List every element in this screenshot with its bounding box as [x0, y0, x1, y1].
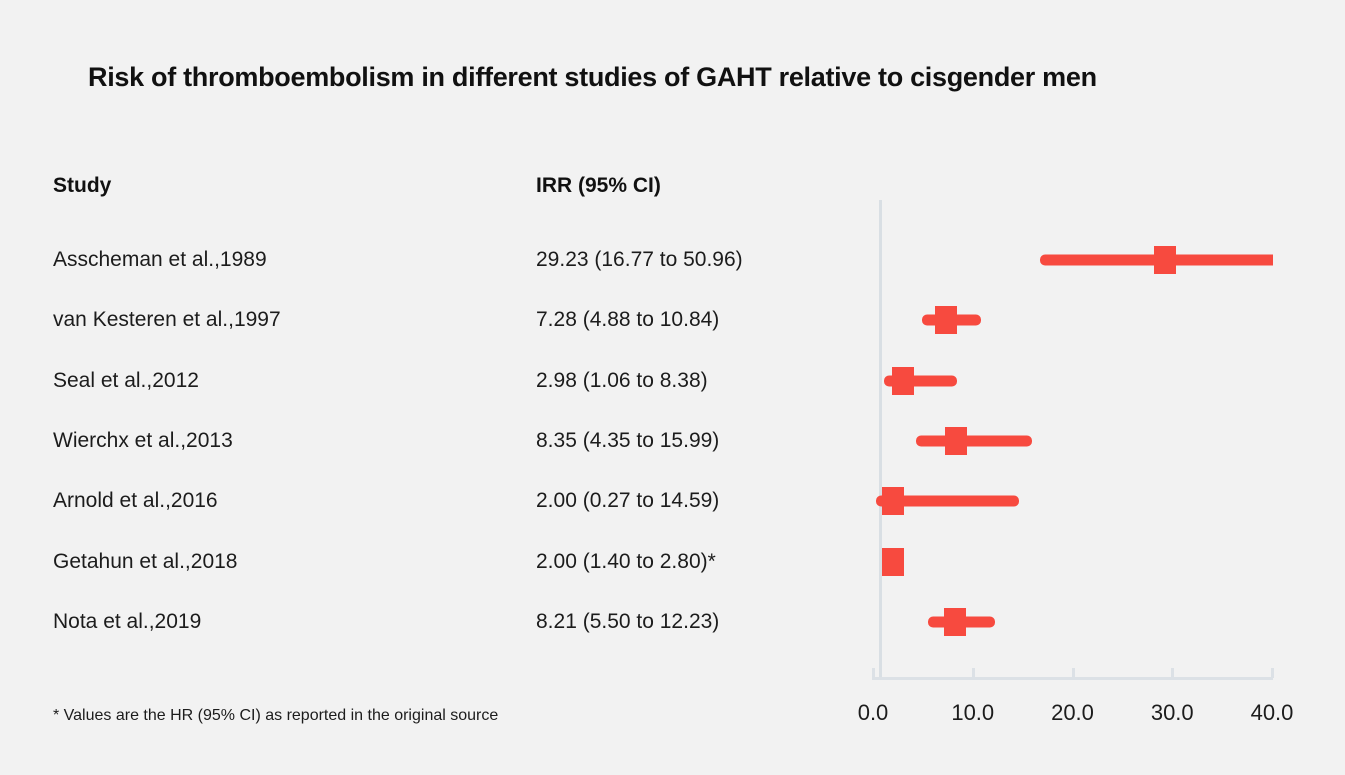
study-name: Nota et al.,2019: [53, 610, 201, 634]
x-axis-tick-label: 30.0: [1151, 700, 1194, 726]
confidence-interval-bar: [928, 616, 995, 627]
study-name: Wierchx et al.,2013: [53, 429, 233, 453]
study-name: Arnold et al.,2016: [53, 489, 218, 513]
x-axis-tick: [872, 668, 875, 678]
irr-value: 2.00 (0.27 to 14.59): [536, 489, 719, 513]
page-title: Risk of thromboembolism in different stu…: [88, 62, 1268, 93]
point-estimate-marker: [1154, 246, 1176, 274]
irr-value: 7.28 (4.88 to 10.84): [536, 308, 719, 332]
irr-value: 2.98 (1.06 to 8.38): [536, 369, 708, 393]
x-axis-spine: [872, 677, 1273, 680]
x-axis-tick: [1072, 668, 1075, 678]
irr-value: 2.00 (1.40 to 2.80)*: [536, 550, 716, 574]
study-name: Seal et al.,2012: [53, 369, 199, 393]
confidence-interval-bar: [1040, 255, 1273, 266]
point-estimate-marker: [892, 367, 914, 395]
point-estimate-marker: [882, 548, 904, 576]
confidence-interval-bar: [884, 375, 957, 386]
x-axis-tick: [972, 668, 975, 678]
reference-line: [879, 200, 882, 679]
column-header-irr: IRR (95% CI): [536, 174, 661, 198]
study-name: van Kesteren et al.,1997: [53, 308, 281, 332]
x-axis-tick-label: 10.0: [951, 700, 994, 726]
study-name: Asscheman et al.,1989: [53, 248, 267, 272]
irr-value: 8.35 (4.35 to 15.99): [536, 429, 719, 453]
x-axis-tick-label: 0.0: [858, 700, 889, 726]
x-axis-tick-label: 40.0: [1251, 700, 1294, 726]
confidence-interval-bar: [922, 315, 981, 326]
x-axis-tick: [1271, 668, 1274, 678]
x-axis-tick-label: 20.0: [1051, 700, 1094, 726]
irr-value: 8.21 (5.50 to 12.23): [536, 610, 719, 634]
study-name: Getahun et al.,2018: [53, 550, 237, 574]
confidence-interval-bar: [887, 556, 901, 567]
column-header-study: Study: [53, 174, 111, 198]
point-estimate-marker: [945, 427, 967, 455]
footnote: * Values are the HR (95% CI) as reported…: [53, 707, 498, 725]
point-estimate-marker: [882, 487, 904, 515]
confidence-interval-bar: [916, 435, 1032, 446]
irr-value: 29.23 (16.77 to 50.96): [536, 248, 743, 272]
x-axis-tick: [1171, 668, 1174, 678]
confidence-interval-bar: [876, 496, 1019, 507]
forest-plot: Risk of thromboembolism in different stu…: [0, 0, 1345, 775]
point-estimate-marker: [935, 306, 957, 334]
point-estimate-marker: [944, 608, 966, 636]
